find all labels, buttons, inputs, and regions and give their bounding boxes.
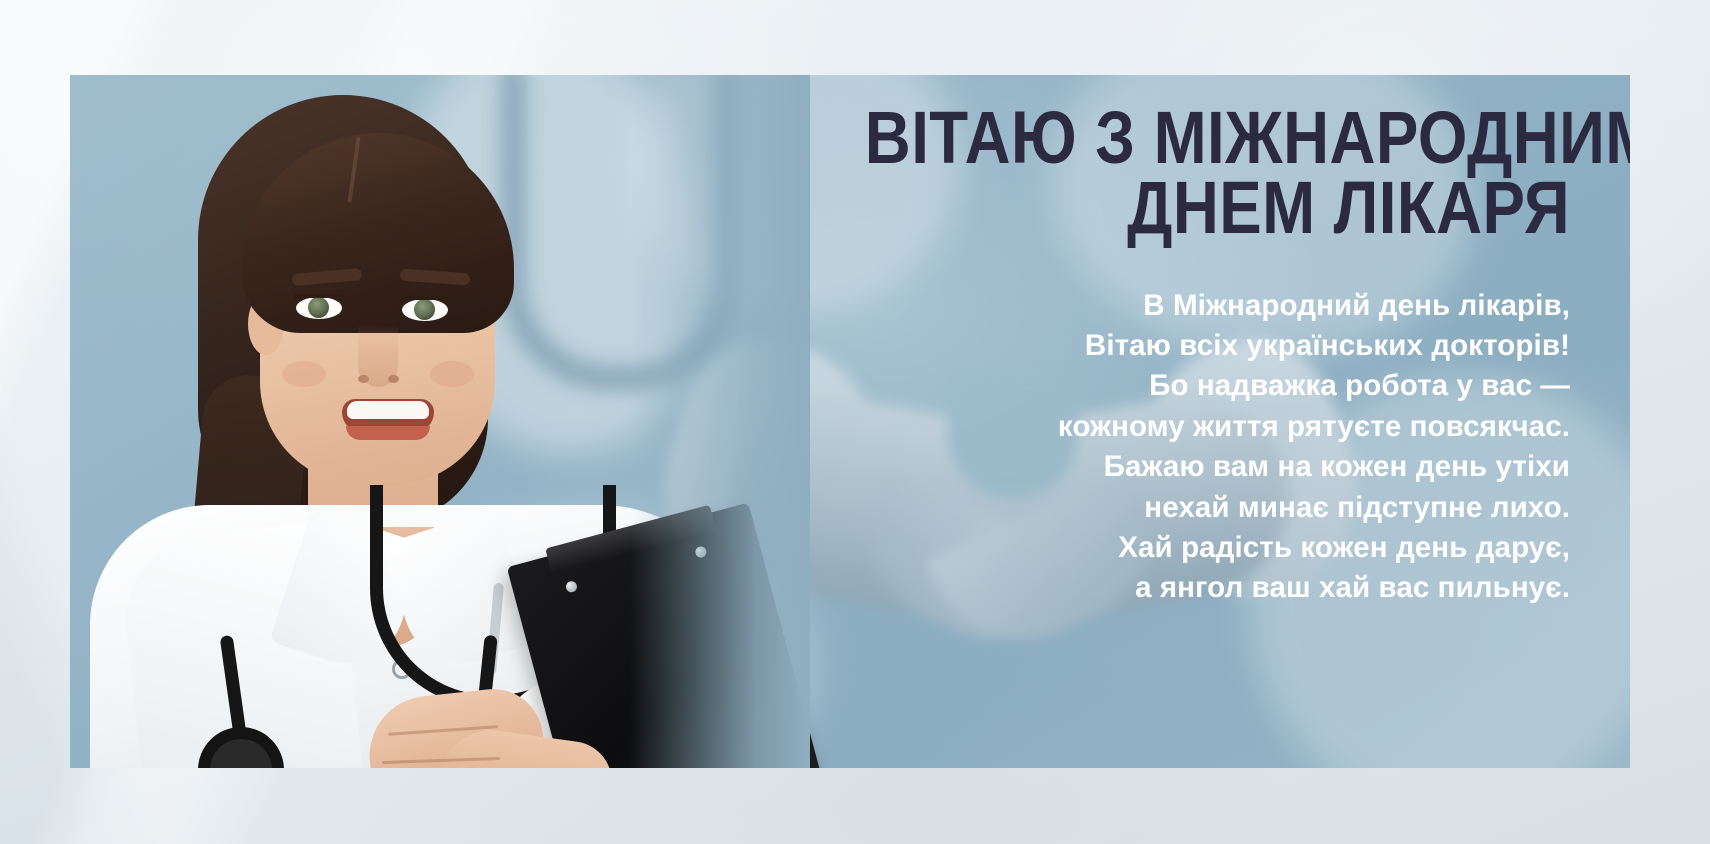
poem-line: нехай минає підступне лихо. — [750, 488, 1570, 528]
cheek — [282, 361, 326, 387]
poem-line: Вітаю всіх українських докторів! — [750, 326, 1570, 366]
poem-line: Бажаю вам на кожен день утіхи — [750, 447, 1570, 487]
poem-line: кожному життя рятуєте повсякчас. — [750, 407, 1570, 447]
card-panel: ВІТАЮ З МІЖНАРОДНИМ ДНЕМ ЛІКАРЯ В Міжнар… — [70, 75, 1630, 768]
greeting-copy: ВІТАЮ З МІЖНАРОДНИМ ДНЕМ ЛІКАРЯ В Міжнар… — [750, 103, 1570, 609]
greeting-card: ВІТАЮ З МІЖНАРОДНИМ ДНЕМ ЛІКАРЯ В Міжнар… — [0, 0, 1710, 844]
poem-line: В Міжнародний день лікарів, — [750, 286, 1570, 326]
eyelash — [294, 294, 344, 298]
nostril — [388, 375, 399, 383]
eyelash — [400, 296, 450, 300]
cheek — [430, 361, 474, 387]
lower-lip — [346, 426, 430, 440]
page-title: ВІТАЮ З МІЖНАРОДНИМ ДНЕМ ЛІКАРЯ — [865, 103, 1570, 244]
iris — [308, 297, 329, 318]
doctor-photo — [70, 75, 770, 768]
poem-text: В Міжнародний день лікарів, Вітаю всіх у… — [750, 286, 1570, 609]
headline-line-2: ДНЕМ ЛІКАРЯ — [865, 173, 1570, 243]
poem-line: а янгол ваш хай вас пильнує. — [750, 568, 1570, 608]
poem-line: Хай радість кожен день дарує, — [750, 528, 1570, 568]
clipboard-screw — [565, 580, 578, 593]
iris — [414, 299, 435, 320]
teeth — [347, 401, 429, 419]
poem-line: Бо надважка робота у вас — — [750, 366, 1570, 406]
nostril — [358, 375, 369, 383]
